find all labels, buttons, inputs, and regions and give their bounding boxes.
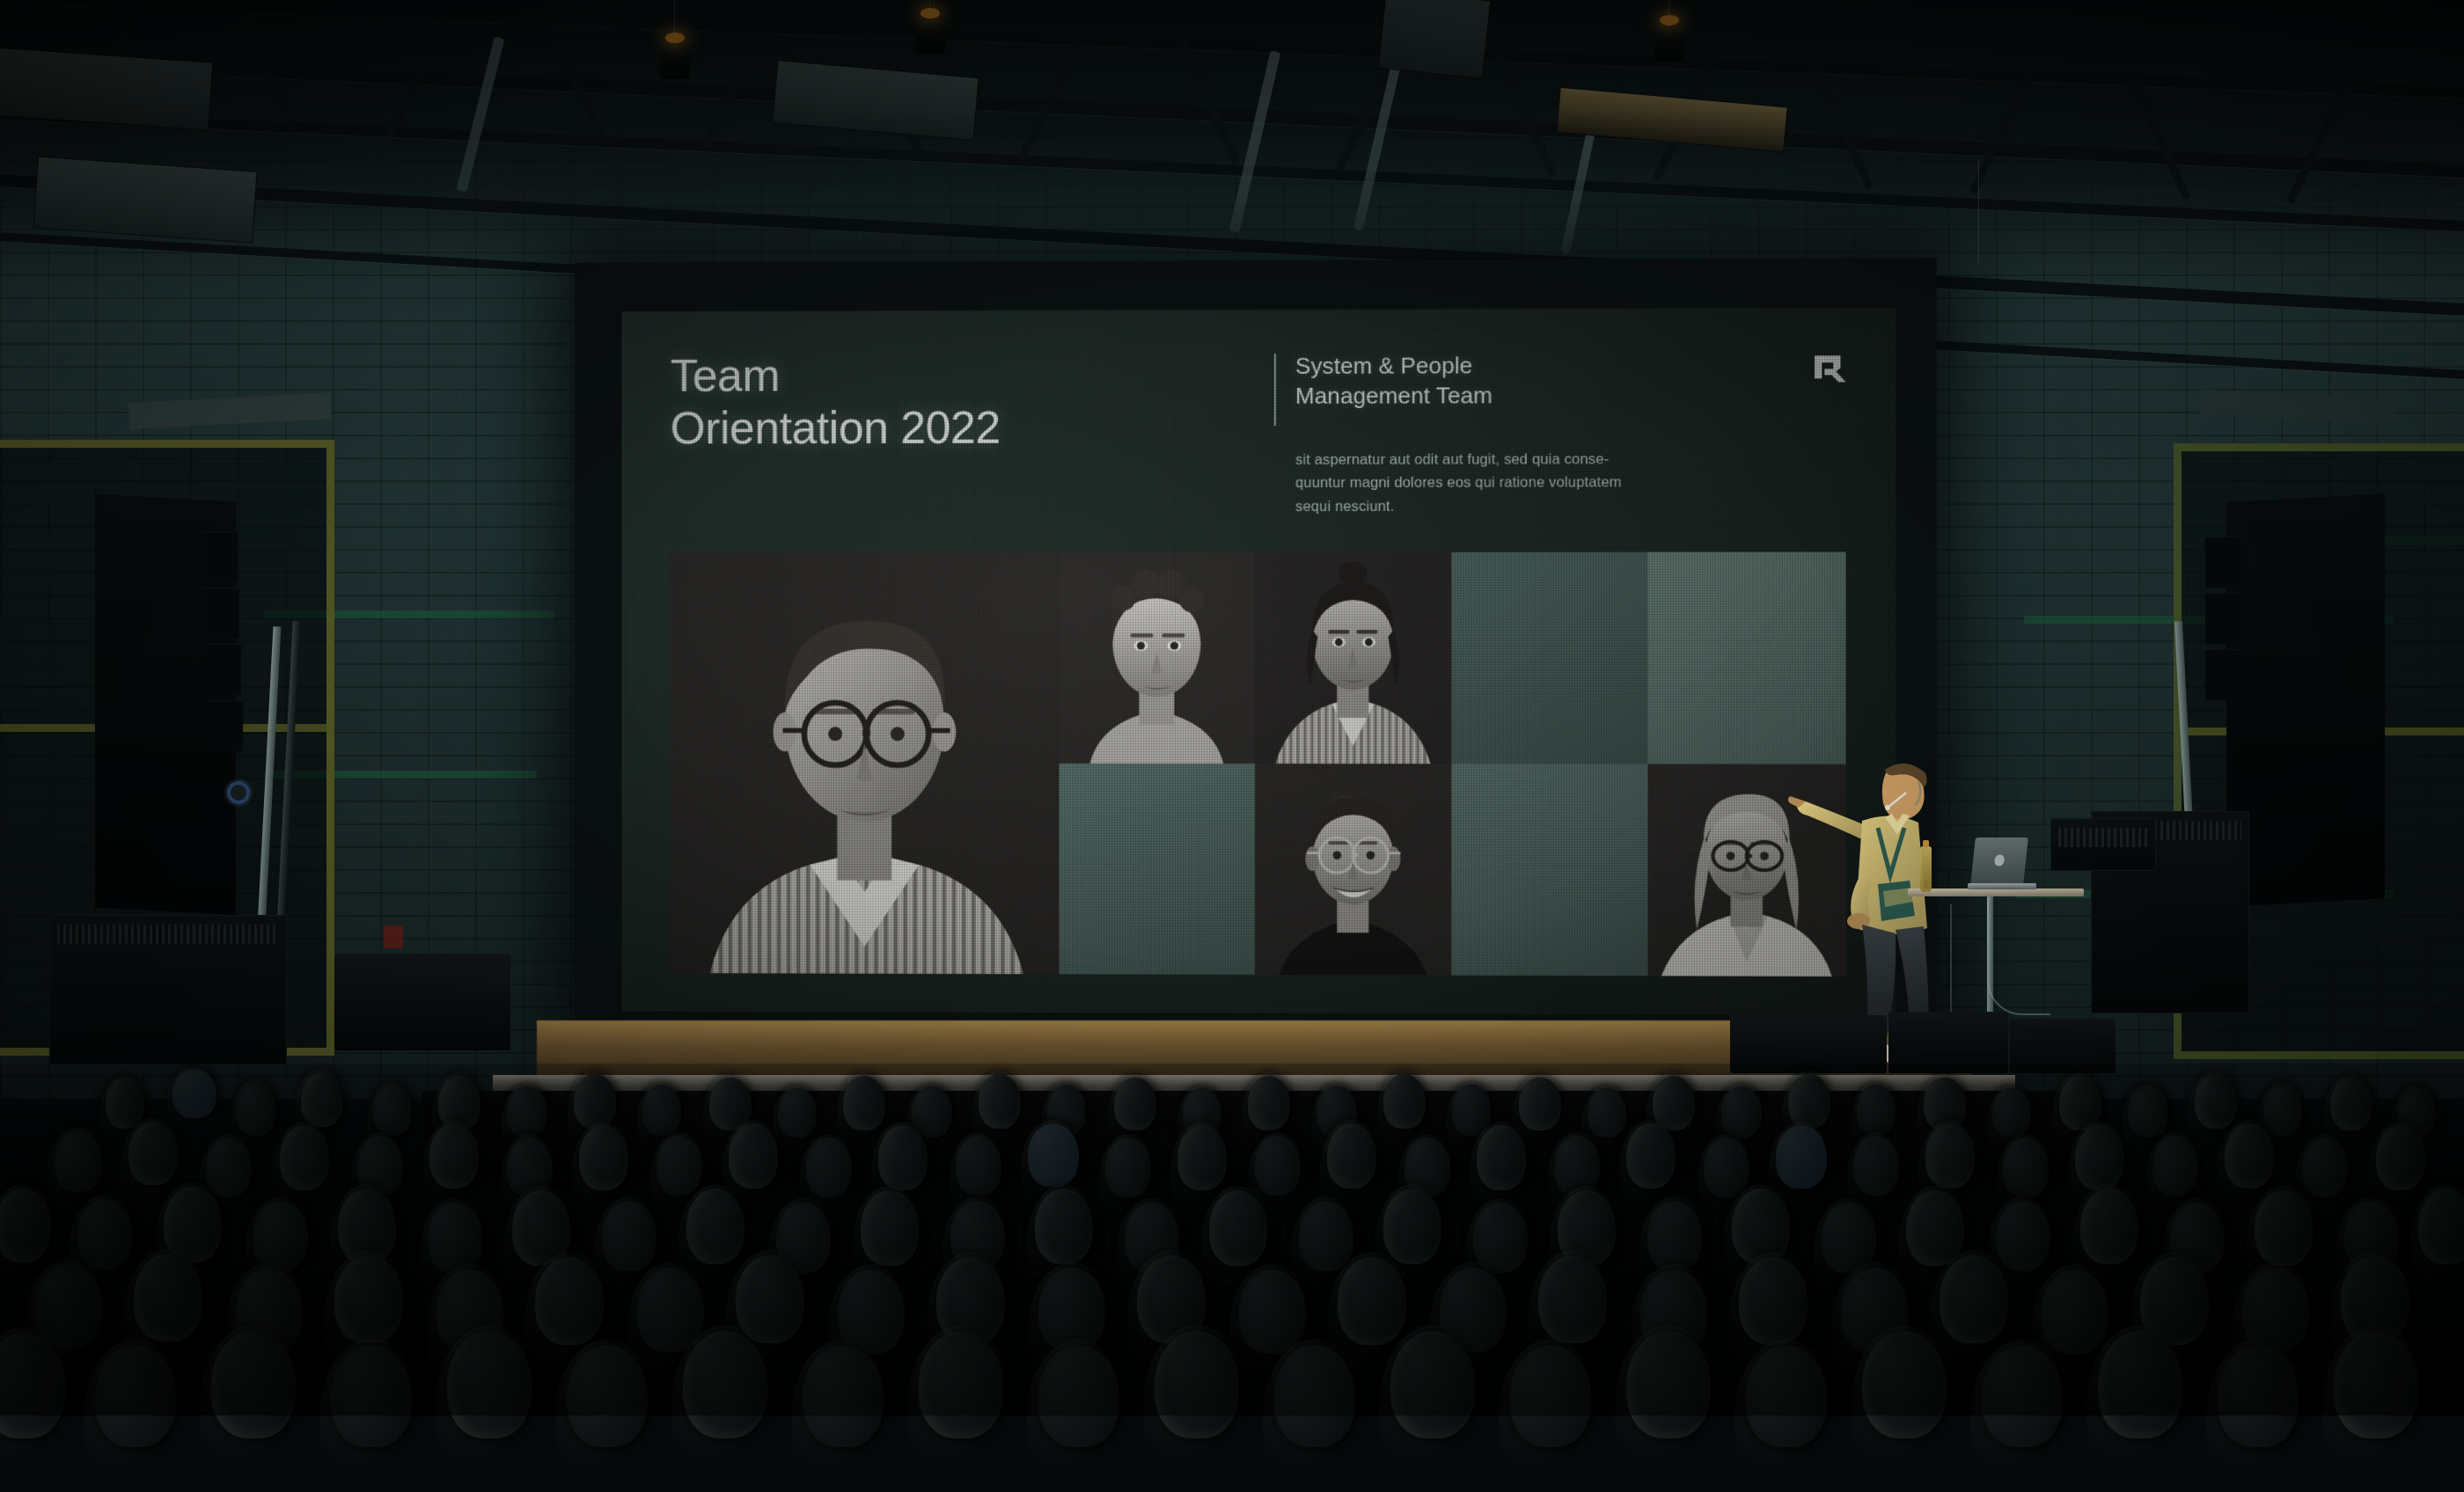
portrait-man-smiling-glasses: [1255, 764, 1451, 976]
audience-head: [1906, 1190, 1964, 1266]
audience-head: [447, 1331, 532, 1438]
audience-head: [1035, 1188, 1093, 1264]
audience-head: [1390, 1331, 1475, 1438]
slide-subtitle-block: System & People Management Team sit aspe…: [1295, 351, 1711, 519]
audience-head: [2255, 1190, 2313, 1266]
audience-head: [507, 1086, 547, 1137]
audience-head: [2152, 1136, 2198, 1196]
audience-head: [683, 1331, 767, 1438]
road-case-right-2: [2050, 818, 2156, 871]
audience-head: [1940, 1255, 2008, 1343]
audience-head: [2330, 1078, 2372, 1130]
ceiling-light-tube: [1229, 50, 1281, 232]
audience-head: [642, 1085, 681, 1136]
audience-head: [77, 1199, 132, 1269]
audience-head: [280, 1125, 329, 1190]
audience-head: [729, 1123, 778, 1188]
audience-head: [1853, 1136, 1899, 1196]
line-array-cabinet: [201, 531, 238, 582]
truss-diagonal: [1019, 37, 1084, 159]
laptop-lid: [1970, 837, 2028, 885]
audience-head: [1383, 1188, 1441, 1264]
stage-monitor: [334, 954, 510, 1050]
audience-head: [656, 1136, 702, 1196]
ceiling-duct: [0, 47, 213, 130]
audience-head: [1739, 1257, 1808, 1345]
audience-head: [0, 1188, 51, 1262]
ceiling-truss: [0, 0, 2464, 100]
rigging-wire: [674, 0, 675, 40]
audience-head: [1209, 1190, 1267, 1266]
audience-head: [2098, 1331, 2182, 1438]
audience-head: [1338, 1257, 1406, 1345]
audience-head: [1776, 1125, 1827, 1188]
audience-head: [1996, 1201, 2050, 1271]
truss-diagonal: [1496, 54, 1557, 178]
audience-head: [95, 1345, 176, 1447]
audience-head: [919, 1331, 1003, 1438]
audience-head: [567, 1345, 648, 1447]
vertical-divider: [1274, 354, 1276, 426]
fire-extinguisher-sign: [384, 925, 403, 948]
audience-head: [1588, 1088, 1626, 1137]
audience-head: [2218, 1345, 2299, 1447]
placeholder-tile-3: [1060, 764, 1255, 975]
subtitle-line-1: System & People: [1295, 351, 1711, 382]
audience-head: [2302, 1137, 2348, 1197]
audience-head: [778, 1088, 817, 1137]
team-photo-grid: [671, 552, 1846, 976]
rigging-wire: [929, 0, 930, 16]
audience-head: [55, 1130, 102, 1192]
audience-head: [429, 1123, 479, 1188]
subtitle-line-2: Management Team: [1295, 380, 1711, 411]
stage-spotlight: [1654, 21, 1684, 62]
portrait-woman-dark-hair: [1255, 552, 1451, 764]
ceiling-duct: [1378, 0, 1492, 79]
slide-subtitle: System & People Management Team: [1295, 351, 1711, 412]
line-array-cabinet: [202, 588, 239, 639]
audience-head: [2128, 1086, 2168, 1137]
audience-head: [1721, 1086, 1762, 1137]
laptop: [1968, 837, 2033, 892]
portrait-photo: [671, 552, 1060, 974]
r-monogram-logo: [1812, 352, 1847, 385]
audience-head: [128, 1122, 178, 1185]
audience-head: [1626, 1331, 1711, 1438]
audience-head: [206, 1137, 252, 1197]
audience-head: [2418, 1188, 2464, 1264]
audience-head: [2075, 1125, 2124, 1190]
audience-head: [1038, 1345, 1119, 1447]
road-case-vent: [57, 925, 279, 944]
audience-head: [1788, 1074, 1830, 1129]
speaker-stack: [2226, 494, 2385, 906]
audience-head: [579, 1125, 628, 1190]
audience-head: [1299, 1201, 1353, 1271]
projection-screen: Team Orientation 2022 System & People Ma…: [575, 258, 1937, 1055]
audience-head: [2042, 1269, 2108, 1354]
stage-spotlight: [660, 39, 690, 79]
portrait-photo: [1255, 552, 1451, 764]
audience-head: [1327, 1123, 1376, 1188]
slide-header: Team Orientation 2022 System & People Ma…: [671, 347, 1853, 516]
audience-head: [1248, 1076, 1290, 1130]
audience-head: [806, 1137, 852, 1197]
audience-head: [1982, 1345, 2063, 1447]
line-array-cabinet: [2205, 649, 2240, 700]
audience-head: [1255, 1136, 1301, 1196]
rigging-wire: [1668, 0, 1669, 23]
audience-head: [2225, 1123, 2274, 1188]
audience-head: [1028, 1123, 1079, 1187]
ceiling-duct: [33, 156, 257, 243]
water-bottle: [1920, 846, 1932, 892]
audience-seating: [0, 1064, 2464, 1415]
rigging-wire: [1978, 158, 1979, 264]
audience-head: [1177, 1125, 1227, 1190]
speaker-status-light: [227, 781, 250, 804]
audience-head: [979, 1074, 1021, 1129]
audience-head: [1105, 1137, 1151, 1197]
body-line-1: sit aspernatur aut odit aut fugit, sed q…: [1295, 448, 1684, 472]
audience-head: [1477, 1125, 1526, 1190]
placeholder-tile-1: [1451, 552, 1648, 764]
line-array-cabinet: [2205, 593, 2240, 644]
audience-head: [1155, 1331, 1239, 1438]
audience-head: [331, 1345, 412, 1447]
body-line-2: quuntur magni dolores eos qui ratione vo…: [1295, 471, 1684, 494]
audience-head: [2195, 1074, 2237, 1129]
audience-head: [1992, 1088, 2031, 1137]
ceiling-light-tube: [456, 36, 504, 193]
audience-head: [334, 1255, 403, 1343]
audience-head: [602, 1201, 656, 1271]
audience-head: [803, 1345, 884, 1447]
audience-head: [2334, 1331, 2418, 1438]
audience-head: [1704, 1137, 1749, 1197]
body-line-3: sequi nesciunt.: [1295, 494, 1684, 518]
laptop-base: [1968, 883, 2036, 889]
portrait-photo: [1255, 764, 1451, 976]
stage-spotlight: [915, 14, 945, 55]
audience-head: [535, 1257, 604, 1345]
ceiling-rig: [0, 0, 2464, 282]
road-case-vent: [2058, 828, 2148, 847]
truss-diagonal: [1179, 41, 1240, 165]
audience-head: [1473, 1203, 1528, 1273]
line-array-cabinet: [204, 644, 241, 695]
placeholder-tile-2: [1648, 552, 1846, 764]
audience-head: [106, 1078, 144, 1129]
audience-head: [0, 1333, 65, 1438]
audience-head: [2263, 1085, 2302, 1136]
audience-head: [2003, 1137, 2049, 1197]
audience-head: [301, 1072, 343, 1127]
audience-head: [211, 1331, 296, 1438]
audience-head: [1647, 1201, 1702, 1271]
audience-head: [1383, 1074, 1426, 1129]
audience-head: [1626, 1123, 1676, 1188]
audience-head: [134, 1254, 202, 1342]
audience-head: [736, 1255, 804, 1343]
slide-body-text: sit aspernatur aut odit aut fugit, sed q…: [1295, 448, 1684, 519]
audience-head: [373, 1085, 412, 1136]
road-case-left: [49, 915, 287, 1064]
truss-diagonal: [2130, 77, 2190, 201]
audience-head: [843, 1076, 885, 1130]
portrait-man-glasses-large: [671, 552, 1060, 974]
audience-head: [2080, 1188, 2138, 1264]
presentation-slide: Team Orientation 2022 System & People Ma…: [621, 308, 1896, 1016]
placeholder-tile-4: [1451, 764, 1648, 976]
audience-head: [1538, 1255, 1607, 1343]
ceiling-duct: [772, 60, 979, 141]
audience-head: [574, 1074, 616, 1129]
truss-diagonal: [1813, 66, 1874, 190]
audience-head: [2376, 1125, 2425, 1190]
audience-head: [956, 1136, 1001, 1196]
audience-head: [172, 1069, 216, 1118]
line-array-cabinet: [206, 700, 243, 751]
portrait-photo: [1060, 552, 1255, 764]
audience-head: [253, 1201, 308, 1271]
audience-head: [1746, 1345, 1827, 1447]
power-cable: [1987, 901, 2050, 1015]
audience-head: [428, 1203, 482, 1273]
audience-head: [686, 1188, 744, 1264]
audience-head: [878, 1125, 928, 1190]
audience-head: [1925, 1123, 1975, 1188]
audience-head: [1274, 1345, 1355, 1447]
audience-head: [1114, 1078, 1156, 1130]
truss-diagonal: [2286, 83, 2351, 205]
audience-head: [1510, 1345, 1591, 1447]
audience-head: [1857, 1085, 1896, 1136]
audience-head: [1239, 1269, 1306, 1354]
venue-hall: Team Orientation 2022 System & People Ma…: [0, 0, 2464, 1415]
audience-head: [236, 1083, 276, 1136]
audience-head: [861, 1190, 919, 1266]
line-array-cabinet: [2205, 537, 2240, 588]
audience-head: [1519, 1078, 1561, 1130]
portrait-woman-curly-hair: [1060, 552, 1255, 764]
audience-head: [1862, 1331, 1947, 1438]
